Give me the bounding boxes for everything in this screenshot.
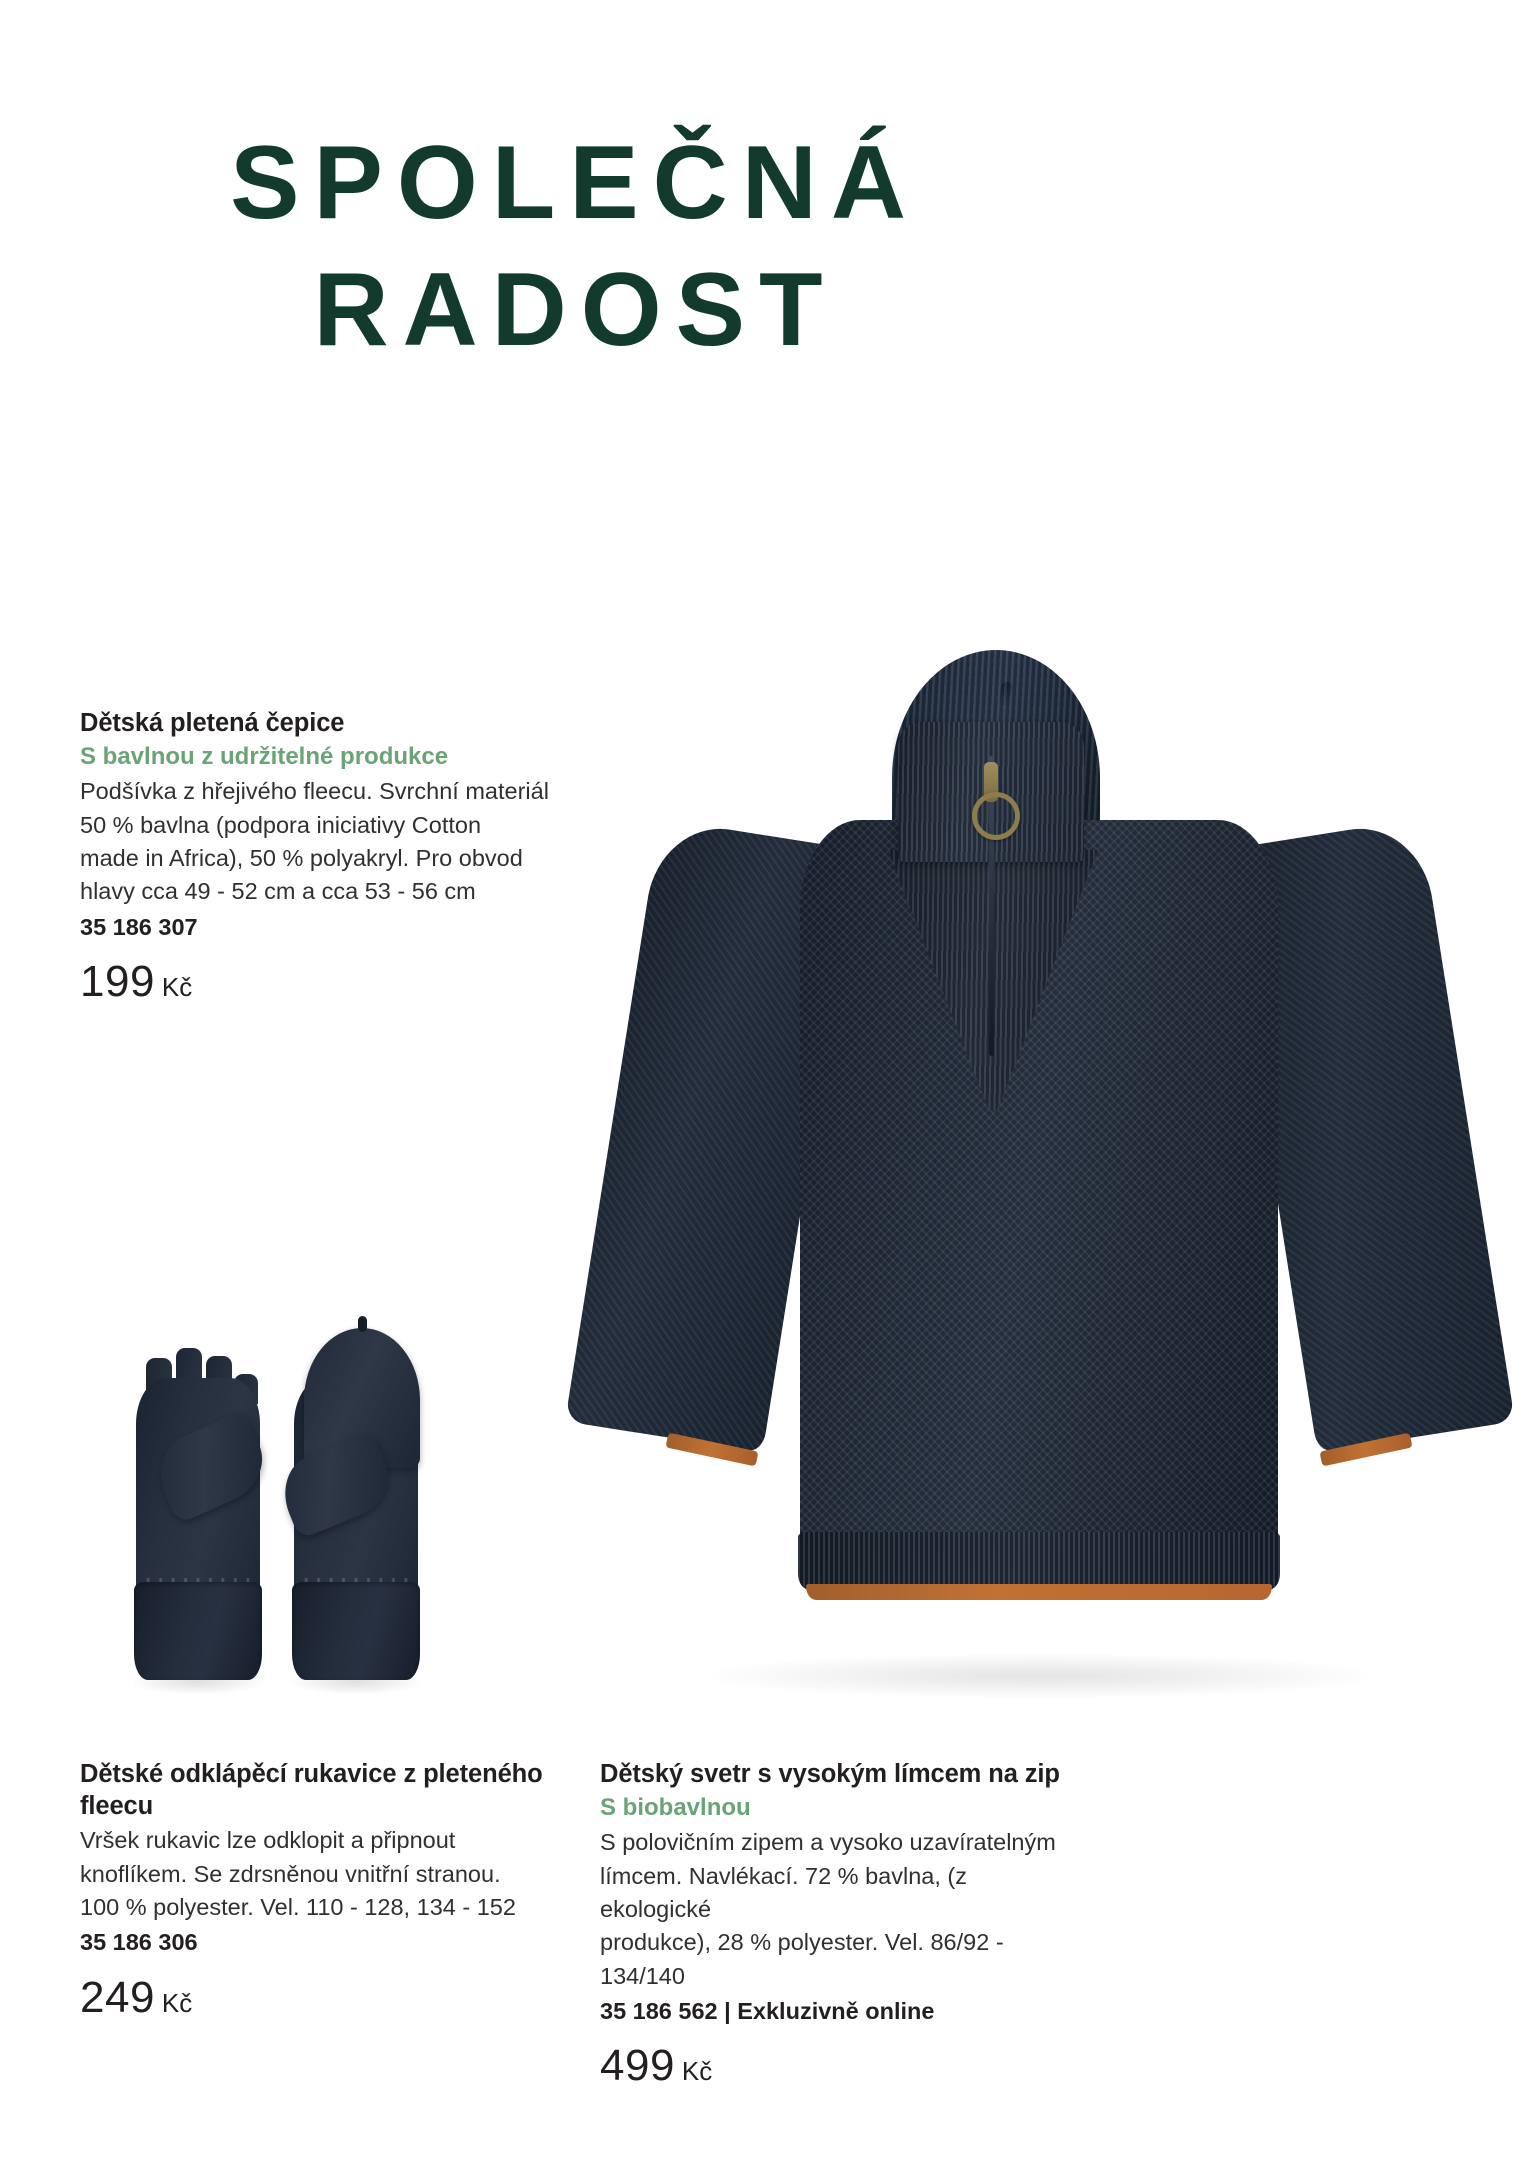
sweater-desc-line-1: S polovičním zipem a vysoko uzavíratelný… — [600, 1826, 1070, 1859]
gloves-title: Dětské odklápěcí rukavice z pleteného fl… — [80, 1758, 550, 1822]
sweater-price-amount: 499 — [600, 2041, 675, 2090]
hat-desc-line-3: made in Africa), 50 % polyakryl. Pro obv… — [80, 842, 550, 875]
gloves-desc-line-2: knoflíkem. Se zdrsněnou vnitřní stranou. — [80, 1858, 550, 1891]
gloves-title-line-1: Dětské odklápěcí rukavice — [80, 1760, 396, 1788]
sweater-description: S polovičním zipem a vysoko uzavíratelný… — [600, 1826, 1070, 1993]
product-image-gloves — [128, 1300, 448, 1700]
hat-eco-subtitle: S bavlnou z udržitelné produkce — [80, 741, 550, 772]
sweater-zip-ring-pull-icon — [972, 792, 1020, 840]
glove-fingerless-left — [128, 1300, 268, 1700]
product-block-sweater: Dětský svetr s vysokým límcem na zip S b… — [600, 1758, 1070, 2104]
hat-desc-line-1: Podšívka z hřejivého fleecu. Svrchní mat… — [80, 775, 550, 808]
sweater-price-currency: Kč — [682, 2056, 712, 2086]
hat-description: Podšívka z hřejivého fleecu. Svrchní mat… — [80, 775, 550, 908]
hat-price-amount: 199 — [80, 957, 155, 1006]
sweater-eco-subtitle: S biobavlnou — [600, 1792, 1070, 1823]
sweater-title: Dětský svetr s vysokým límcem na zip — [600, 1758, 1070, 1790]
glove-right-cuff — [292, 1582, 420, 1680]
page-headline: SPOLEČNÁ RADOST — [0, 120, 1150, 374]
headline-line-2: RADOST — [0, 247, 1150, 374]
hat-price: 199Kč — [80, 960, 550, 1004]
gloves-price-amount: 249 — [80, 1973, 155, 2022]
gloves-price: 249Kč — [80, 1976, 550, 2020]
headline-line-1: SPOLEČNÁ — [0, 120, 1150, 247]
sweater-article-number: 35 186 562 | Exkluzivně online — [600, 1995, 1070, 2028]
sweater-price: 499Kč — [600, 2044, 1070, 2088]
product-block-hat: Dětská pletená čepice S bavlnou z udržit… — [80, 707, 550, 1020]
gloves-description: Vršek rukavic lze odklopit a připnout kn… — [80, 1824, 550, 1924]
gloves-article-number: 35 186 306 — [80, 1926, 550, 1959]
product-block-gloves: Dětské odklápěcí rukavice z pleteného fl… — [80, 1758, 550, 2036]
sweater-desc-line-2: límcem. Navlékací. 72 % bavlna, (z ekolo… — [600, 1860, 1070, 1927]
glove-mitten-right — [286, 1300, 426, 1700]
gloves-desc-line-1: Vršek rukavic lze odklopit a připnout — [80, 1824, 550, 1857]
sweater-desc-line-3: produkce), 28 % polyester. Vel. 86/92 - … — [600, 1926, 1070, 1993]
glove-left-cuff — [134, 1582, 262, 1680]
gloves-desc-line-3: 100 % polyester. Vel. 110 - 128, 134 - 1… — [80, 1891, 550, 1924]
sweater-ribbed-hem — [798, 1532, 1280, 1590]
glove-right-button-tab — [358, 1316, 367, 1332]
hat-desc-line-4: hlavy cca 49 - 52 cm a cca 53 - 56 cm — [80, 875, 550, 908]
hat-title: Dětská pletená čepice — [80, 707, 550, 739]
gloves-price-currency: Kč — [162, 1988, 192, 2018]
sweater-hem-orange-trim — [806, 1584, 1272, 1600]
hat-desc-line-2: 50 % bavlna (podpora iniciativy Cotton — [80, 809, 550, 842]
hat-article-number: 35 186 307 — [80, 911, 550, 944]
sweater-drop-shadow — [710, 1654, 1370, 1698]
hat-price-currency: Kč — [162, 972, 192, 1002]
product-image-sweater — [620, 700, 1460, 1710]
